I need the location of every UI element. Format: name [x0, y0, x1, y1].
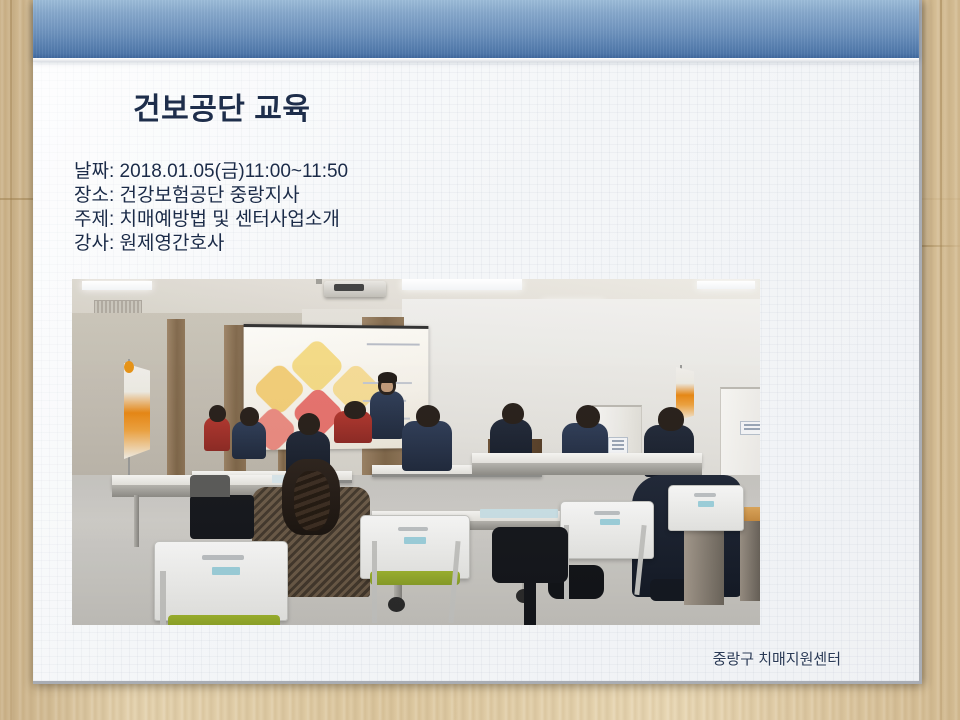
- chair-slot: [202, 555, 244, 560]
- audience-head: [576, 405, 600, 428]
- door-sign-right: [740, 421, 760, 435]
- audience-person: [232, 421, 266, 459]
- wood-seam: [922, 245, 960, 247]
- chair-leg: [160, 571, 166, 625]
- footer-organization: 중랑구 치매지원센터: [0, 648, 889, 669]
- ceiling-light: [697, 281, 755, 289]
- bag-on-desk: [190, 495, 254, 539]
- chair-back: [154, 541, 288, 621]
- desk-leg: [134, 495, 139, 547]
- desk-apron: [472, 463, 702, 475]
- chair-armrest: [190, 475, 230, 497]
- bag-strap: [524, 579, 536, 625]
- projector-mount: [316, 279, 322, 284]
- projector-lens: [334, 284, 364, 291]
- chair-tag: [404, 537, 426, 544]
- chair-tag: [698, 501, 714, 507]
- wall-wood-panel: [167, 319, 185, 479]
- classroom-photo: [72, 279, 760, 625]
- audience-person: [402, 421, 452, 471]
- chair-tag: [212, 567, 240, 575]
- wood-table-leg: [684, 519, 724, 605]
- chair-seat: [370, 571, 460, 585]
- audience-head: [298, 413, 320, 435]
- audience-head: [240, 407, 259, 426]
- info-line-date: 날짜: 2018.01.05(금)11:00~11:50: [74, 160, 348, 184]
- chair-slot: [398, 527, 428, 531]
- ceiling-light: [402, 279, 522, 290]
- korean-ceremonial-flag: [124, 363, 150, 459]
- desk-caster: [388, 597, 405, 612]
- handout-paper: [480, 509, 558, 518]
- header-banner: [33, 0, 919, 58]
- ceiling-light: [82, 281, 152, 290]
- event-info-block: 날짜: 2018.01.05(금)11:00~11:50 장소: 건강보험공단 …: [74, 160, 348, 256]
- presenter-body: [370, 391, 404, 439]
- info-line-place: 장소: 건강보험공단 중랑지사: [74, 184, 348, 208]
- wood-plank-divider: [940, 0, 942, 720]
- flag-finial: [124, 361, 134, 373]
- info-line-topic: 주제: 치매예방법 및 센터사업소개: [74, 208, 348, 232]
- banner-lip: [33, 58, 919, 62]
- presentation-slide: 건보공단 교육 날짜: 2018.01.05(금)11:00~11:50 장소:…: [0, 0, 960, 720]
- audience-head: [344, 401, 366, 419]
- audience-head: [416, 405, 440, 427]
- chair-back: [668, 485, 744, 531]
- presenter-hair: [378, 372, 397, 383]
- audience-head: [658, 407, 684, 431]
- backpack-on-chair: [492, 527, 568, 583]
- audience-person: [204, 417, 230, 451]
- chair-leg: [372, 541, 377, 623]
- wood-table-leg: [740, 521, 760, 601]
- audience-head: [502, 403, 524, 424]
- chair-seat: [168, 615, 280, 625]
- chair-slot: [694, 493, 716, 497]
- audience-head: [209, 405, 226, 422]
- slide-text-line: [367, 343, 420, 345]
- chair-slot: [594, 511, 620, 515]
- page-title: 건보공단 교육: [133, 84, 310, 128]
- banner-texture: [33, 0, 919, 58]
- chair-tag: [600, 519, 620, 525]
- info-line-speaker: 강사: 원제영간호사: [74, 232, 348, 256]
- hair-texture: [294, 471, 330, 531]
- wood-plank-divider: [10, 0, 12, 720]
